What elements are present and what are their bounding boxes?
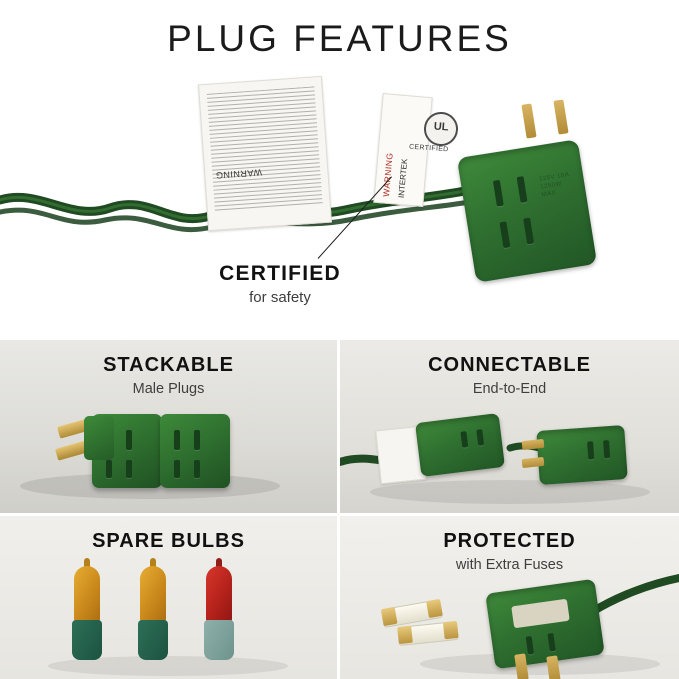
bulb-3-base xyxy=(204,620,234,660)
certified-callout: CERTIFIED for safety xyxy=(150,262,410,306)
stacked-plug-back xyxy=(160,414,230,488)
panel-stackable: STACKABLE Male Plugs xyxy=(0,340,337,513)
fuse-2-cap-right xyxy=(443,621,459,639)
plug-slot-left-upper xyxy=(493,180,504,207)
stackable-male-prongs xyxy=(36,418,96,478)
connectable-left-slot-b xyxy=(476,429,484,446)
bulb-2-glass xyxy=(140,566,166,624)
prong-plug-body xyxy=(84,416,114,460)
plug-slot-right-lower xyxy=(523,218,534,245)
stack-front-slot-right2 xyxy=(126,460,132,478)
connectable-right-slot-b xyxy=(603,440,610,458)
bulb-3-glass xyxy=(206,566,232,624)
connectable-plug-left xyxy=(415,413,505,477)
stack-back-slot-left xyxy=(174,430,180,450)
panel-protected: PROTECTED with Extra Fuses xyxy=(340,516,679,679)
spare-bulb-3 xyxy=(202,566,236,662)
fuse-1-cap-left xyxy=(381,607,398,626)
protected-plug xyxy=(485,579,605,670)
bulb-1-base xyxy=(72,620,102,660)
green-female-plug: 125V 10A1250WMAX xyxy=(457,139,597,283)
stack-back-slot-right2 xyxy=(194,460,200,478)
spare-bulb-1 xyxy=(70,566,104,662)
spare-bulb-2 xyxy=(136,566,170,662)
protected-slot-a xyxy=(526,636,534,655)
connectable-left-slot-a xyxy=(460,431,468,448)
warning-hang-tag: WARNING xyxy=(198,76,332,231)
stack-front-slot-right xyxy=(126,430,132,450)
plug-features-infographic: PLUG FEATURES WARNING WARNING INTERTEK U… xyxy=(0,0,679,679)
stack-back-slot-right xyxy=(194,430,200,450)
plug-slot-left-lower xyxy=(499,221,510,248)
fuse-1-cap-right xyxy=(426,599,443,618)
panel-spare-bulbs: SPARE BULBS xyxy=(0,516,337,679)
divider-vertical xyxy=(337,337,340,679)
plug-slot-right-upper xyxy=(517,176,528,203)
bulb-2-base xyxy=(138,620,168,660)
connectable-plug-right xyxy=(536,425,628,485)
top-panel: PLUG FEATURES WARNING WARNING INTERTEK U… xyxy=(0,0,679,337)
protected-slot-b xyxy=(547,633,555,652)
fuse-2-cap-left xyxy=(397,626,413,644)
connectable-right-slot-a xyxy=(587,441,594,459)
panel-connectable: CONNECTABLE End-to-End xyxy=(340,340,679,513)
connectable-cord xyxy=(340,340,679,513)
stack-back-slot-left2 xyxy=(174,460,180,478)
certified-callout-title: CERTIFIED xyxy=(150,262,410,286)
tag-fine-print xyxy=(207,86,324,220)
stack-front-slot-left2 xyxy=(106,460,112,478)
plug-emboss-text: 125V 10A1250WMAX xyxy=(539,170,578,199)
bulb-1-glass xyxy=(74,566,100,624)
certified-callout-subtitle: for safety xyxy=(150,289,410,306)
page-title: PLUG FEATURES xyxy=(0,18,679,60)
fuse-door xyxy=(511,599,570,629)
